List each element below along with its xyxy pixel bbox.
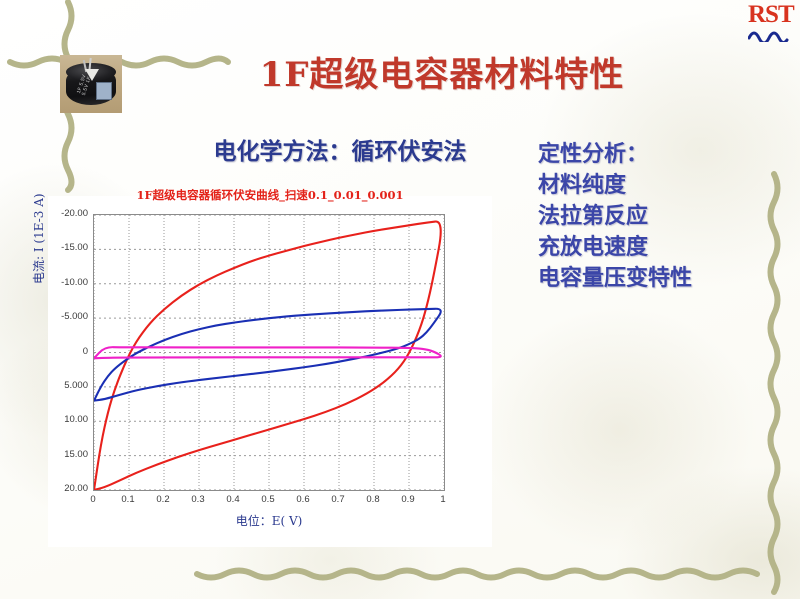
page-subtitle: 电化学方法：循环伏安法 (180, 132, 500, 166)
analysis-heading: 定性分析： (538, 139, 768, 170)
chart-y-tick: -15.00 (48, 242, 88, 253)
chart-x-axis-label: 电位：E( V) (93, 512, 445, 529)
chart-x-tick: 0.8 (353, 494, 393, 505)
chart-y-tick: 10.00 (48, 414, 88, 425)
logo-wave-icon (748, 26, 790, 42)
list-item: 充放电速度 (538, 232, 768, 263)
slide-canvas: RST 1F 5.5V 5.5V 1F 1F超级电容器材料特性 电化学方法：循环… (0, 0, 800, 599)
chart-x-tick: 0.3 (178, 494, 218, 505)
chart-title: 1F超级电容器循环伏安曲线_扫速0.1_0.01_0.001 (48, 187, 492, 203)
chart-x-tick: 0.9 (388, 494, 428, 505)
chart-x-tick: 0 (73, 494, 113, 505)
chart-y-tick: 20.00 (48, 483, 88, 494)
analysis-list: 定性分析： 材料纯度 法拉第反应 充放电速度 电容量压变特性 (538, 139, 768, 294)
chart-y-tick: 15.00 (48, 449, 88, 460)
chart-y-tick: -20.00 (48, 208, 88, 219)
capacitor-label-patch (96, 82, 112, 100)
chart-x-tick: 0.5 (248, 494, 288, 505)
list-item: 材料纯度 (538, 170, 768, 201)
chart-series-svg (94, 215, 444, 490)
deco-line-bottom (195, 562, 795, 586)
cv-chart-panel: 1F超级电容器循环伏安曲线_扫速0.1_0.01_0.001 电流: I (1E… (48, 196, 492, 547)
page-title: 1F超级电容器材料特性 (222, 47, 662, 96)
rst-logo: RST (748, 4, 794, 46)
chart-y-tick: -10.00 (48, 277, 88, 288)
chart-x-tick: 0.2 (143, 494, 183, 505)
chart-y-tick: 0 (48, 346, 88, 357)
chart-x-tick: 0.6 (283, 494, 323, 505)
logo-text: RST (748, 4, 794, 26)
chart-y-tick: -5.000 (48, 311, 88, 322)
chart-plot-area (93, 214, 445, 491)
supercapacitor-photo: 1F 5.5V 5.5V 1F (60, 55, 122, 113)
chart-x-tick: 0.7 (318, 494, 358, 505)
chart-series-0.1 (94, 221, 441, 490)
chart-y-axis-label: 电流: I (1E-3 A) (30, 193, 47, 284)
list-item: 法拉第反应 (538, 201, 768, 232)
chart-x-tick: 1 (423, 494, 463, 505)
chart-x-tick: 0.1 (108, 494, 148, 505)
chart-x-tick: 0.4 (213, 494, 253, 505)
chart-series-0.01 (94, 309, 441, 401)
chart-y-tick: 5.000 (48, 380, 88, 391)
list-item: 电容量压变特性 (538, 263, 768, 294)
